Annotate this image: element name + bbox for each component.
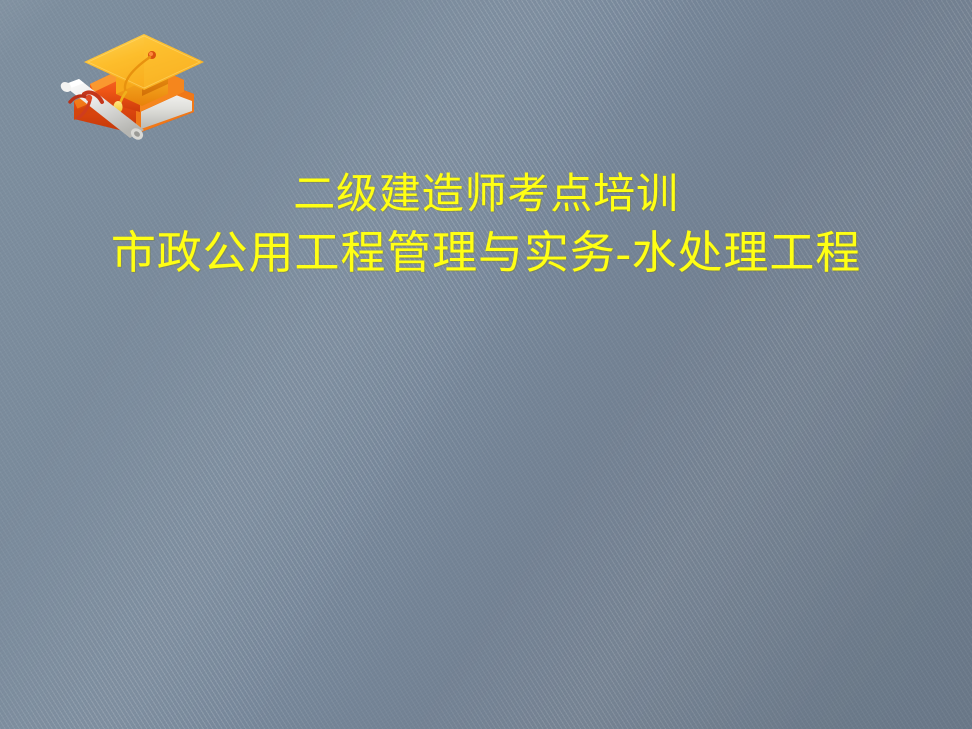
slide-title-line-1: 二级建造师考点培训 (0, 170, 972, 220)
slide-title-block: 二级建造师考点培训 市政公用工程管理与实务-水处理工程 (0, 170, 972, 280)
slide-title-line-2: 市政公用工程管理与实务-水处理工程 (0, 226, 972, 280)
presentation-slide: 二级建造师考点培训 市政公用工程管理与实务-水处理工程 (0, 0, 972, 729)
graduation-cap-books-diploma-icon (44, 22, 204, 150)
